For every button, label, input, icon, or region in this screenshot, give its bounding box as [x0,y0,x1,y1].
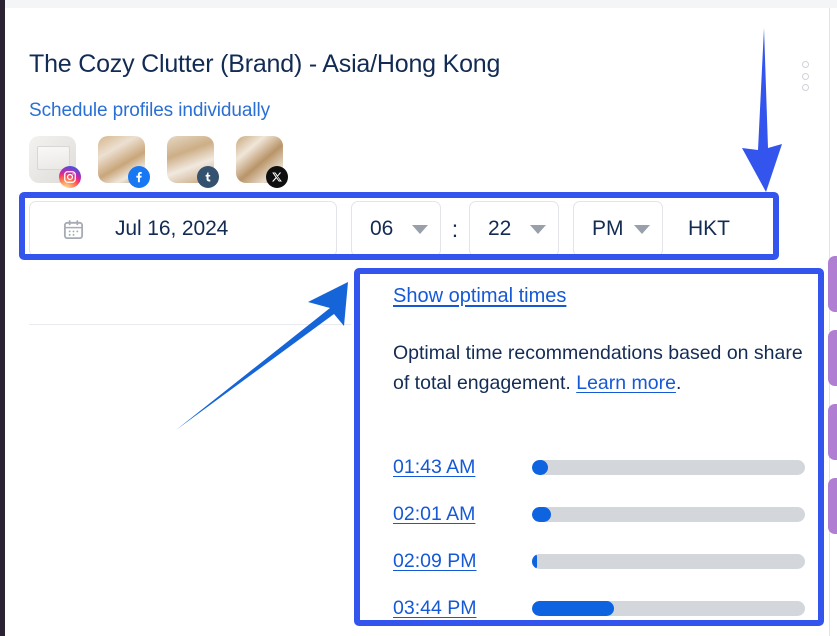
chevron-down-icon [412,225,428,234]
date-field[interactable]: Jul 16, 2024 [29,201,337,257]
schedule-profiles-individually-link[interactable]: Schedule profiles individually [29,100,270,122]
schedule-card: The Cozy Clutter (Brand) - Asia/Hong Kon… [9,8,829,636]
list-item[interactable]: 03:44 PM [393,585,805,632]
kebab-dot-2 [802,73,809,80]
peek-card-2[interactable] [828,330,837,386]
meridiem-select[interactable]: PM [573,201,663,257]
minute-value: 22 [488,217,511,241]
engagement-bar-fill [532,460,548,475]
optimal-time-link[interactable]: 01:43 AM [393,456,496,479]
right-gutter [829,8,837,636]
kebab-dot-1 [802,61,809,68]
instagram-icon [59,166,81,188]
engagement-bar-track [532,554,805,569]
overflow-menu-button[interactable] [794,58,816,94]
optimal-time-link[interactable]: 02:09 PM [393,550,496,573]
list-item[interactable]: 02:01 AM [393,491,805,538]
show-optimal-times-toggle[interactable]: Show optimal times [393,285,566,308]
datetime-row: Jul 16, 2024 06 : 22 PM HKT [29,201,755,257]
date-value: Jul 16, 2024 [115,217,228,241]
kebab-dot-3 [802,84,809,91]
optimal-description: Optimal time recommendations based on sh… [393,338,805,398]
profile-avatar-instagram[interactable] [29,136,76,183]
peek-card-1[interactable] [828,256,837,312]
page-title: The Cozy Clutter (Brand) - Asia/Hong Kon… [29,50,500,79]
facebook-icon [128,166,150,188]
engagement-bar-track [532,601,805,616]
optimal-times-card: Optimal time recommendations based on sh… [379,326,817,628]
profile-avatars [29,136,283,183]
engagement-bar-fill [532,507,551,522]
chevron-down-icon [634,225,650,234]
list-item[interactable]: 02:09 PM [393,538,805,585]
engagement-bar-fill [532,554,537,569]
profile-avatar-facebook[interactable] [98,136,145,183]
x-icon [266,166,288,188]
hour-value: 06 [370,217,393,241]
optimal-times-panel: Show optimal times Optimal time recommen… [371,280,826,634]
screenshot-root: The Cozy Clutter (Brand) - Asia/Hong Kon… [0,0,837,636]
window-top-strip [0,0,837,8]
chevron-down-icon [530,225,546,234]
optimal-time-link[interactable]: 02:01 AM [393,503,496,526]
engagement-bar-fill [532,601,614,616]
optimal-description-period: . [676,372,681,394]
section-divider [29,324,351,325]
optimal-time-list: 01:43 AM 02:01 AM 02:09 PM [393,444,805,632]
calendar-icon [62,218,85,241]
list-item[interactable]: 01:43 AM [393,444,805,491]
engagement-bar-track [532,460,805,475]
meridiem-value: PM [592,217,624,241]
tumblr-icon [197,166,219,188]
time-separator: : [441,216,469,243]
optimal-time-link[interactable]: 03:44 PM [393,597,496,620]
peek-card-4[interactable] [828,478,837,534]
engagement-bar-track [532,507,805,522]
profile-avatar-tumblr[interactable] [167,136,214,183]
timezone-label: HKT [663,201,755,257]
timezone-value: HKT [688,217,730,241]
learn-more-link[interactable]: Learn more [576,372,676,394]
minute-select[interactable]: 22 [469,201,559,257]
profile-avatar-x[interactable] [236,136,283,183]
hour-select[interactable]: 06 [351,201,441,257]
peek-card-3[interactable] [828,404,837,460]
